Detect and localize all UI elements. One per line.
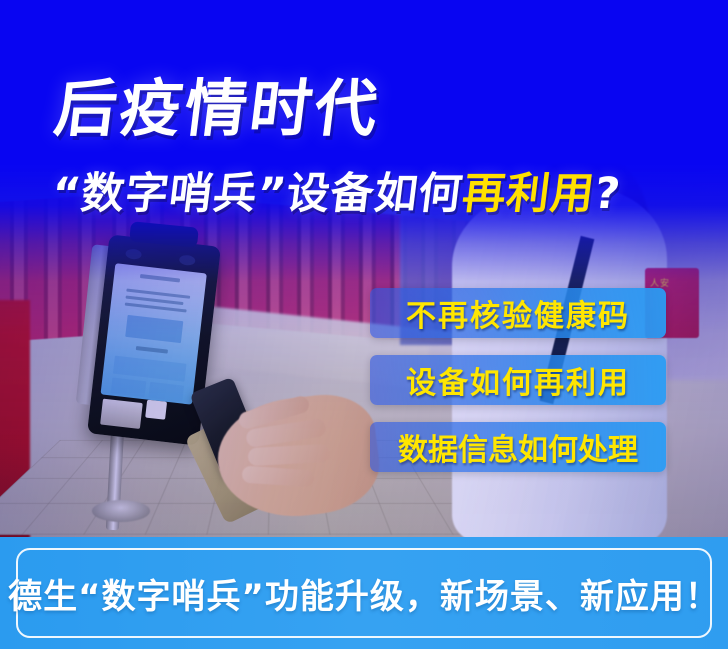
bottom-banner-text: 德生“数字哨兵”功能升级，新场景、新应用！ [0, 537, 728, 649]
poster-headline: 后疫情时代 [51, 78, 384, 140]
feature-bar-1: 不再核验健康码 [370, 288, 666, 338]
feature-bar-3: 数据信息如何处理 [370, 422, 666, 472]
feature-bar-list: 不再核验健康码 设备如何再利用 数据信息如何处理 [370, 288, 666, 472]
poster-subheadline: “数字哨兵”设备如何再利用? [49, 173, 623, 216]
subheadline-prefix: “数字哨兵”设备如何 [49, 169, 466, 219]
poster-image: 人安 后疫情时代 “数字哨兵”设备如何再利用? 不再核验健康码 设备如何再利用 … [0, 0, 728, 649]
feature-bar-3-label: 数据信息如何处理 [398, 425, 638, 469]
feature-bar-2: 设备如何再利用 [370, 355, 666, 405]
bottom-banner: 德生“数字哨兵”功能升级，新场景、新应用！ [0, 537, 728, 649]
feature-bar-1-label: 不再核验健康码 [406, 291, 630, 335]
feature-bar-2-label: 设备如何再利用 [406, 358, 630, 402]
subheadline-highlight: 再利用 [460, 169, 598, 219]
